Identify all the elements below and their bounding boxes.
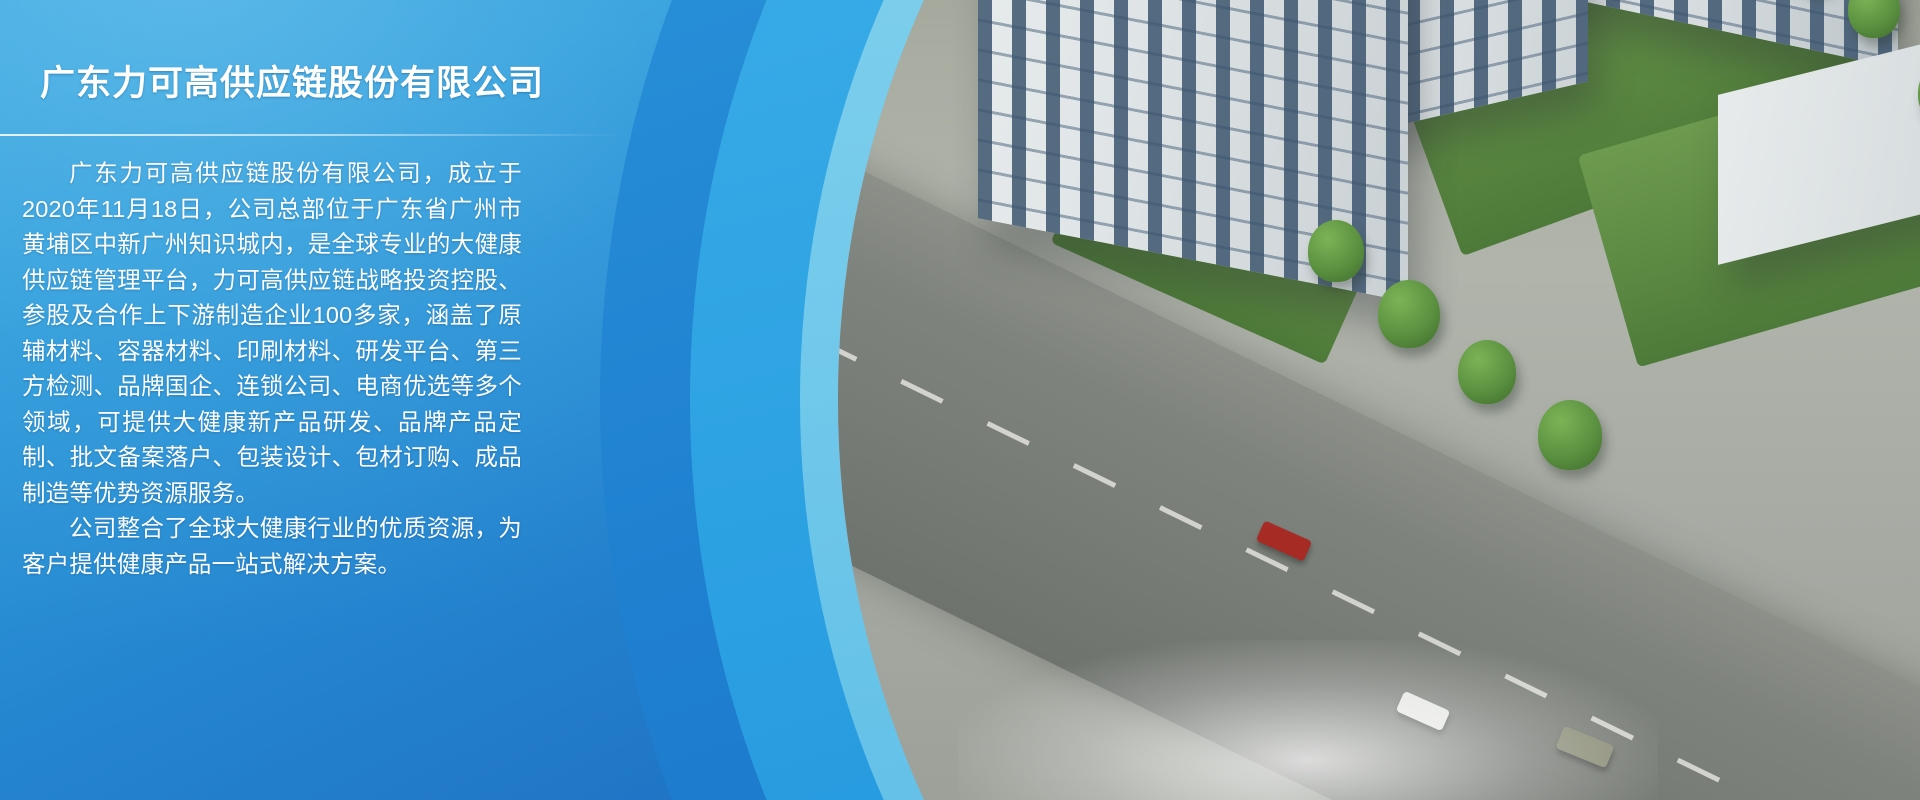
photo-tree [1458,340,1516,404]
title-divider [0,134,620,136]
profile-paragraph-1: 广东力可高供应链股份有限公司，成立于2020年11月18日，公司总部位于广东省广… [22,156,522,511]
photo-tree [1538,400,1602,470]
company-profile-banner: 广东力可高供应链股份有限公司 广东力可高供应链股份有限公司，成立于2020年11… [0,0,1920,800]
page-title: 广东力可高供应链股份有限公司 [40,55,544,106]
photo-mist [958,640,1658,800]
photo-arc-mask [838,0,1920,800]
aerial-building-photo [838,0,1920,800]
profile-paragraph-2: 公司整合了全球大健康行业的优质资源，为客户提供健康产品一站式解决方案。 [22,511,522,582]
profile-body: 广东力可高供应链股份有限公司，成立于2020年11月18日，公司总部位于广东省广… [22,156,522,582]
photo-tree [1378,280,1440,348]
photo-tree [1308,220,1364,282]
text-panel: 广东力可高供应链股份有限公司 广东力可高供应链股份有限公司，成立于2020年11… [0,0,620,800]
